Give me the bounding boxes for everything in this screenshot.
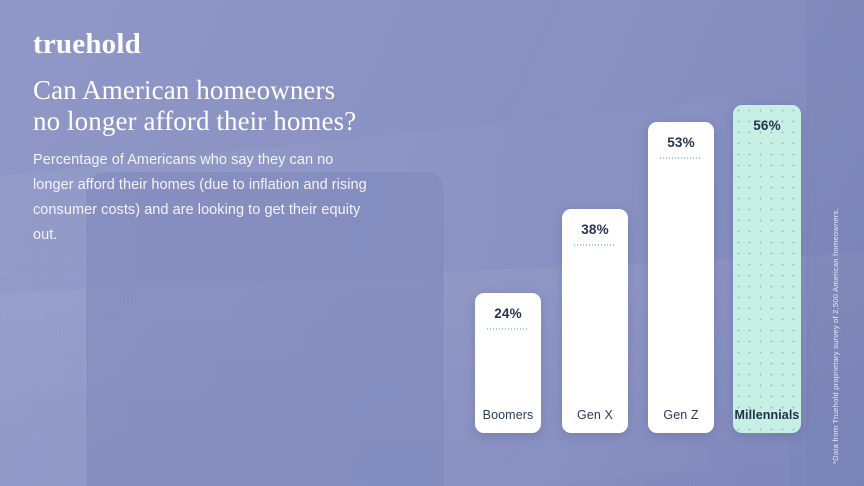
source-footnote: *Data from Truehold proprietary survey o… bbox=[831, 208, 840, 464]
bar-category-label: Millennials bbox=[733, 408, 801, 422]
bar-accent-rule bbox=[660, 157, 702, 159]
bar-millennials[interactable]: 56%Millennials bbox=[733, 105, 801, 433]
bar-value-label: 53% bbox=[648, 135, 714, 150]
bar-gen-x[interactable]: 38%Gen X bbox=[562, 209, 628, 433]
bar-category-label: Gen X bbox=[562, 408, 628, 422]
bar-chart: 24%Boomers38%Gen X53%Gen Z56%Millennials bbox=[0, 0, 864, 486]
infographic-canvas: truehold Can American homeowners no long… bbox=[0, 0, 864, 486]
bar-value-label: 38% bbox=[562, 222, 628, 237]
bar-value-label: 24% bbox=[475, 306, 541, 321]
bar-boomers[interactable]: 24%Boomers bbox=[475, 293, 541, 433]
bar-gen-z[interactable]: 53%Gen Z bbox=[648, 122, 714, 433]
bar-value-label: 56% bbox=[733, 118, 801, 133]
bar-dot-pattern bbox=[733, 105, 801, 433]
bar-category-label: Boomers bbox=[475, 408, 541, 422]
bar-accent-rule bbox=[487, 328, 529, 330]
bar-accent-rule bbox=[574, 244, 616, 246]
bar-category-label: Gen Z bbox=[648, 408, 714, 422]
